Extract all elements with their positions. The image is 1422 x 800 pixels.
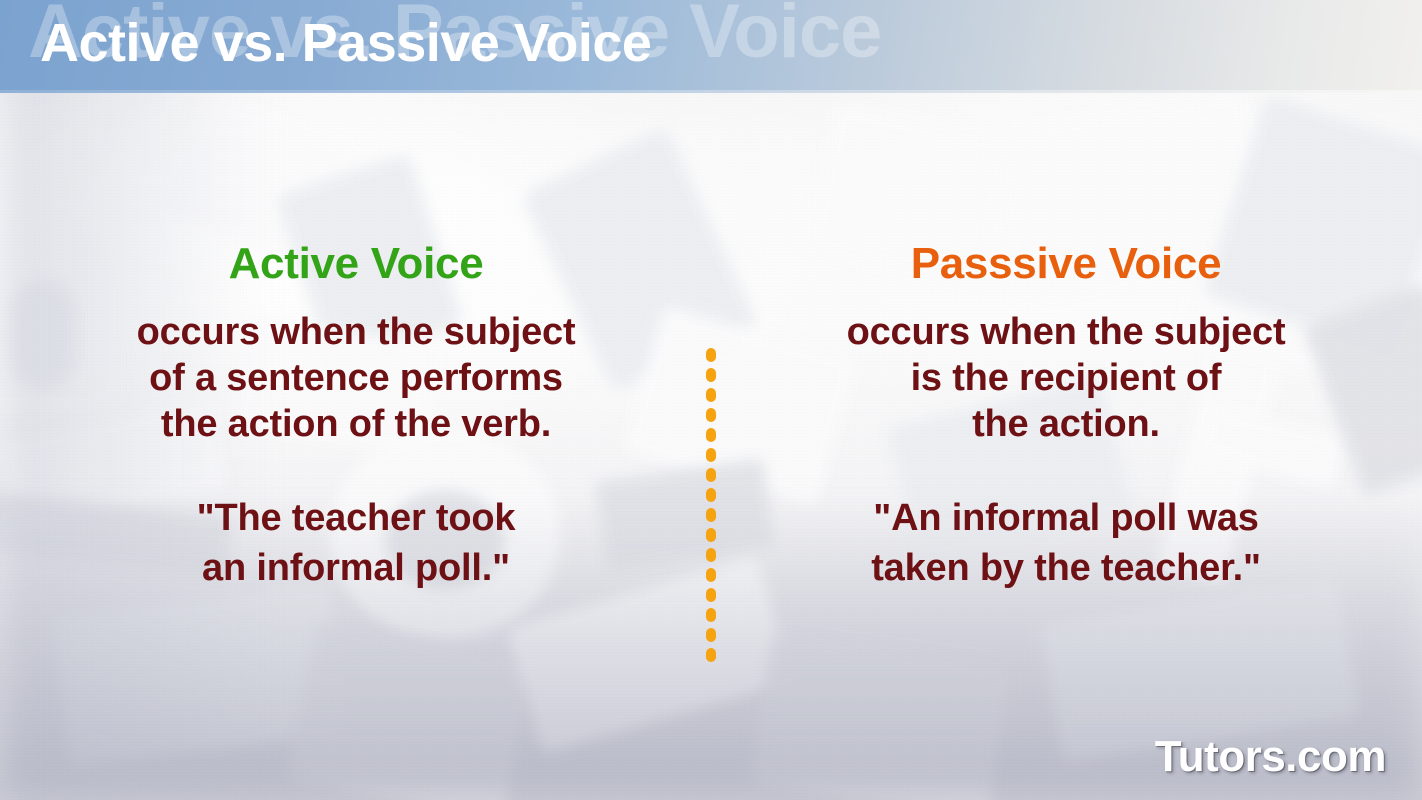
- column-definition-active: occurs when the subject of a sentence pe…: [46, 309, 666, 447]
- content-area: Active Voice occurs when the subject of …: [0, 93, 1422, 800]
- tutors-logo[interactable]: Tutors.com: [1155, 732, 1386, 782]
- column-example-active: "The teacher took an informal poll.": [46, 493, 666, 593]
- example-line: an informal poll.": [46, 543, 666, 593]
- definition-line: occurs when the subject: [756, 309, 1376, 355]
- column-definition-passive: occurs when the subject is the recipient…: [756, 309, 1376, 447]
- column-passive-voice: Passsive Voice occurs when the subject i…: [756, 241, 1376, 593]
- column-heading-active: Active Voice: [46, 241, 666, 287]
- header-band: Active vs. Passive Voice Active vs. Pass…: [0, 0, 1422, 93]
- page-title: Active vs. Passive Voice: [40, 16, 651, 70]
- column-active-voice: Active Voice occurs when the subject of …: [46, 241, 666, 593]
- definition-line: of a sentence performs: [46, 355, 666, 401]
- dotted-divider: [706, 348, 716, 660]
- slide-canvas: Active vs. Passive Voice Active vs. Pass…: [0, 0, 1422, 800]
- example-line: "An informal poll was: [756, 493, 1376, 543]
- definition-line: is the recipient of: [756, 355, 1376, 401]
- definition-line: the action.: [756, 401, 1376, 447]
- definition-line: the action of the verb.: [46, 401, 666, 447]
- example-line: taken by the teacher.": [756, 543, 1376, 593]
- column-heading-passive: Passsive Voice: [756, 241, 1376, 287]
- example-line: "The teacher took: [46, 493, 666, 543]
- column-example-passive: "An informal poll was taken by the teach…: [756, 493, 1376, 593]
- definition-line: occurs when the subject: [46, 309, 666, 355]
